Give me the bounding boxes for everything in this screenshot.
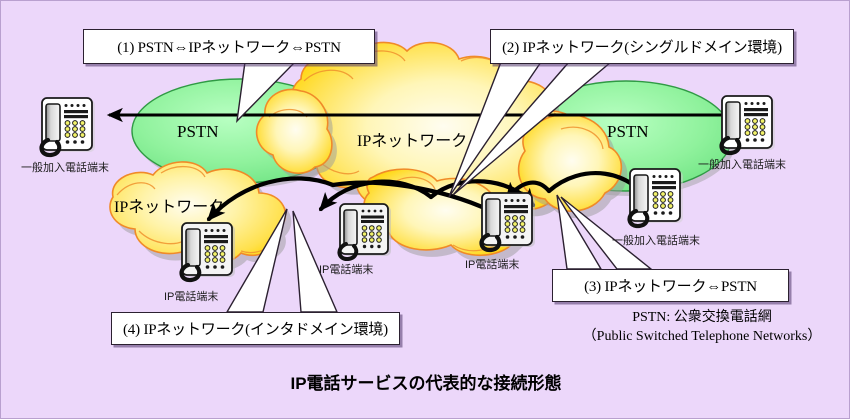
terminal-t1: [42, 98, 95, 155]
legend-line-1: PSTN: 公衆交換電話網: [561, 309, 843, 328]
legend-pstn-abbreviation: PSTN: 公衆交換電話網 （Public Switched Telephone…: [561, 309, 843, 347]
terminal-t6: [630, 169, 683, 226]
legend-line-2: （Public Switched Telephone Networks）: [561, 328, 843, 347]
callout-case-3: (3) IPネットワーク⇔PSTN: [552, 269, 789, 302]
figure-title: IP電話サービスの代表的な接続形態: [1, 369, 850, 394]
terminal-t3: [182, 223, 235, 280]
callout-case-4: (4) IPネットワーク(インタドメイン環境): [111, 312, 400, 345]
terminal-t5: [482, 193, 535, 250]
terminal-t2: [722, 96, 775, 153]
callout-case-2: (2) IPネットワーク(シングルドメイン環境): [490, 29, 794, 64]
figure-canvas: PSTN PSTN IPネットワーク IPネットワーク (1) PSTN⇔IPネ…: [0, 0, 850, 419]
callout-case-1: (1) PSTN⇔IPネットワーク⇔PSTN: [83, 29, 375, 64]
terminal-t4: [339, 204, 391, 259]
